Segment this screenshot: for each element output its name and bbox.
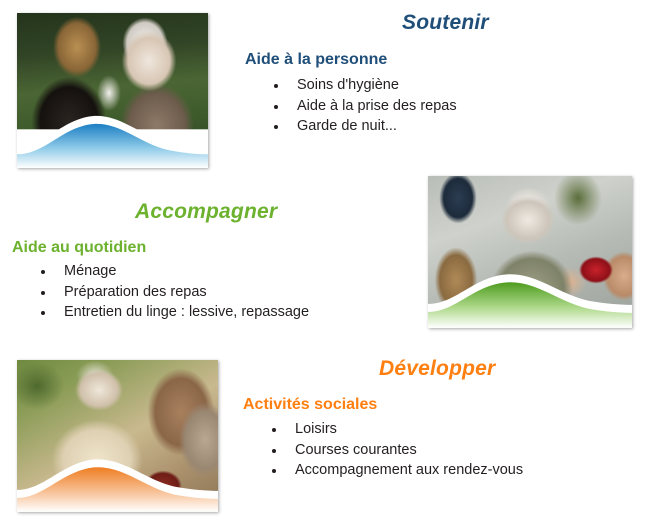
caregiver-with-elderly-woman-photo [17,13,208,168]
bullet-dot-icon [274,84,278,88]
list-item: Aide à la prise des repas [266,96,457,117]
list-item: Soins d'hygiène [266,75,457,96]
bullet-dot-icon [41,270,45,274]
photo-card-develop [17,360,218,512]
elderly-woman-receiving-cup-photo [428,176,632,328]
list-item-label: Soins d'hygiène [297,77,399,93]
list-item-label: Accompagnement aux rendez-vous [295,462,523,478]
list-item: Courses courantes [264,440,523,461]
list-item: Garde de nuit... [266,116,457,137]
list-item-label: Préparation des repas [64,284,207,300]
bullet-dot-icon [274,105,278,109]
bullet-dot-icon [272,449,276,453]
list-item-label: Aide à la prise des repas [297,98,457,114]
section-title-support: Soutenir [402,11,489,35]
section-title-accompany: Accompagner [135,200,277,224]
bullet-list-accompany: Ménage Préparation des repas Entretien d… [33,261,309,323]
list-item: Accompagnement aux rendez-vous [264,460,523,481]
section-heading-accompany: Aide au quotidien [12,239,146,257]
section-title-develop: Développer [379,357,495,381]
bullet-dot-icon [41,311,45,315]
smiling-elderly-man-photo [17,360,218,512]
section-heading-develop: Activités sociales [243,396,377,414]
bullet-dot-icon [272,428,276,432]
list-item-label: Ménage [64,263,116,279]
list-item-label: Garde de nuit... [297,118,397,134]
services-slide: Soutenir Aide à la personne Soins d'hygi… [0,0,650,532]
bullet-list-develop: Loisirs Courses courantes Accompagnement… [264,419,523,481]
list-item-label: Courses courantes [295,442,417,458]
photo-card-accompany [428,176,632,328]
list-item-label: Entretien du linge : lessive, repassage [64,304,309,320]
list-item: Préparation des repas [33,282,309,303]
list-item: Loisirs [264,419,523,440]
bullet-list-support: Soins d'hygiène Aide à la prise des repa… [266,75,457,137]
list-item-label: Loisirs [295,421,337,437]
section-heading-support: Aide à la personne [245,51,387,69]
bullet-dot-icon [41,291,45,295]
photo-card-support [17,13,208,168]
bullet-dot-icon [272,469,276,473]
bullet-dot-icon [274,125,278,129]
list-item: Entretien du linge : lessive, repassage [33,302,309,323]
list-item: Ménage [33,261,309,282]
